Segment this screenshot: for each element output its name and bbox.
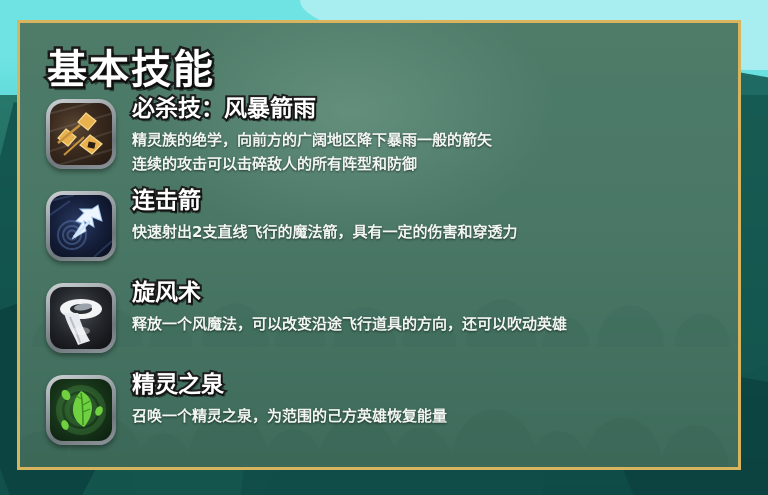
skill-description-line: 召唤一个精灵之泉，为范围的己方英雄恢复能量: [132, 404, 447, 428]
skill-text-block: 连击箭 快速射出2支直线飞行的魔法箭，具有一定的伤害和穿透力: [132, 185, 517, 244]
skill-icon-frame[interactable]: [46, 283, 116, 353]
list-item[interactable]: 精灵之泉 召唤一个精灵之泉，为范围的己方英雄恢复能量: [20, 369, 738, 457]
list-item[interactable]: 必杀技：风暴箭雨 精灵族的绝学，向前方的广阔地区降下暴雨一般的箭矢 连续的攻击可…: [20, 93, 738, 181]
skill-description: 释放一个风魔法，可以改变沿途飞行道具的方向，还可以吹动英雄: [132, 312, 567, 336]
skill-name: 必杀技：风暴箭雨: [132, 95, 492, 125]
skill-icon-frame[interactable]: [46, 99, 116, 169]
page-title: 基本技能: [47, 45, 215, 95]
skill-text-block: 必杀技：风暴箭雨 精灵族的绝学，向前方的广阔地区降下暴雨一般的箭矢 连续的攻击可…: [132, 93, 492, 176]
skill-description-line: 快速射出2支直线飞行的魔法箭，具有一定的伤害和穿透力: [132, 220, 517, 244]
combo-arrow-icon: [50, 195, 112, 257]
skill-icon-frame[interactable]: [46, 191, 116, 261]
skill-text-block: 精灵之泉 召唤一个精灵之泉，为范围的己方英雄恢复能量: [132, 369, 447, 428]
skill-list: 必杀技：风暴箭雨 精灵族的绝学，向前方的广阔地区降下暴雨一般的箭矢 连续的攻击可…: [20, 93, 738, 461]
whirlwind-icon: [50, 287, 112, 349]
list-item[interactable]: 连击箭 快速射出2支直线飞行的魔法箭，具有一定的伤害和穿透力: [20, 185, 738, 273]
skill-name: 精灵之泉: [132, 371, 447, 401]
skill-description: 快速射出2支直线飞行的魔法箭，具有一定的伤害和穿透力: [132, 220, 517, 244]
skill-text-block: 旋风术 释放一个风魔法，可以改变沿途飞行道具的方向，还可以吹动英雄: [132, 277, 567, 336]
skill-name: 连击箭: [132, 187, 517, 217]
skill-description-line: 精灵族的绝学，向前方的广阔地区降下暴雨一般的箭矢: [132, 128, 492, 152]
skill-info-screen: 基本技能: [0, 0, 768, 495]
skill-description: 召唤一个精灵之泉，为范围的己方英雄恢复能量: [132, 404, 447, 428]
elf-spring-leaf-icon: [50, 379, 112, 441]
skill-icon-frame[interactable]: [46, 375, 116, 445]
skill-panel: 基本技能: [17, 20, 741, 470]
skill-description: 精灵族的绝学，向前方的广阔地区降下暴雨一般的箭矢 连续的攻击可以击碎敌人的所有阵…: [132, 128, 492, 177]
skill-description-line: 连续的攻击可以击碎敌人的所有阵型和防御: [132, 152, 492, 176]
list-item[interactable]: 旋风术 释放一个风魔法，可以改变沿途飞行道具的方向，还可以吹动英雄: [20, 277, 738, 365]
skill-description-line: 释放一个风魔法，可以改变沿途飞行道具的方向，还可以吹动英雄: [132, 312, 567, 336]
ultimate-arrow-storm-icon: [50, 103, 112, 165]
skill-name: 旋风术: [132, 279, 567, 309]
